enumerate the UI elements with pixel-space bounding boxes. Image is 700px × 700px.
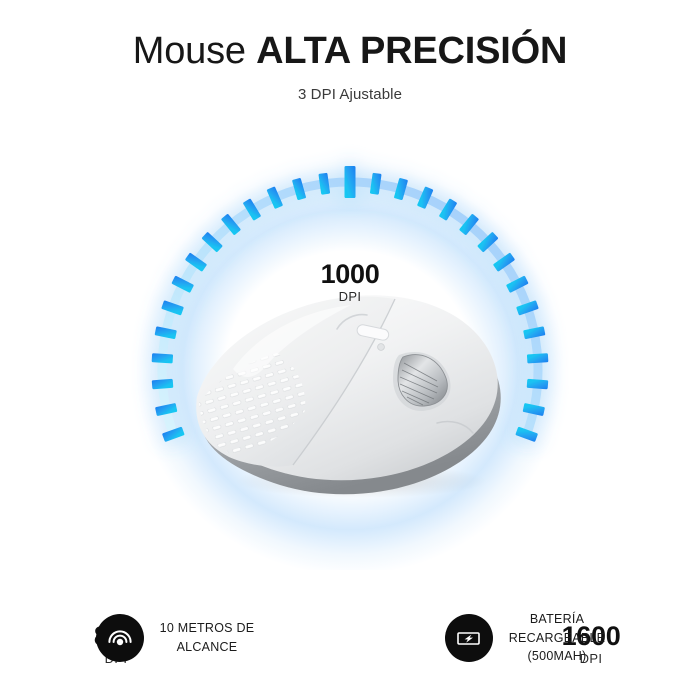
title-bold-part: ALTA PRECISIÓN xyxy=(256,30,567,72)
feature-wireless-range: 10 METROS DE ALCANCE xyxy=(0,588,350,688)
feature-wireless-range-label: 10 METROS DE ALCANCE xyxy=(160,619,255,657)
arc-tick xyxy=(527,353,549,363)
dpi-dial-hero: 1000 DPI 800 DPI 1600 DPI xyxy=(0,120,700,570)
battery-bolt-glyph xyxy=(454,623,484,653)
feature-line: (500MAH) xyxy=(509,647,606,666)
mouse-led-indicator xyxy=(378,344,385,351)
feature-line: BATERÍA xyxy=(509,610,606,629)
feature-rechargeable-battery: BATERÍA RECARGEABLE (500MAH) xyxy=(350,588,700,688)
header: Mouse ALTA PRECISIÓN 3 DPI Ajustable xyxy=(0,0,700,103)
feature-line: 10 METROS DE xyxy=(160,619,255,638)
product-image-mouse xyxy=(185,285,515,500)
feature-strip: 10 METROS DE ALCANCE BATERÍA RECARGEABLE… xyxy=(0,588,700,688)
feature-line: ALCANCE xyxy=(160,638,255,657)
page-subtitle: 3 DPI Ajustable xyxy=(0,86,700,103)
arc-tick-active xyxy=(345,166,356,198)
feature-battery-label: BATERÍA RECARGEABLE (500MAH) xyxy=(509,610,606,666)
wireless-waves-glyph xyxy=(105,623,135,653)
arc-tick xyxy=(152,353,174,363)
dpi-value: 1000 xyxy=(290,260,410,288)
page-title: Mouse ALTA PRECISIÓN xyxy=(0,28,700,74)
wireless-range-icon xyxy=(96,614,144,662)
title-light-part: Mouse xyxy=(133,30,256,72)
dpi-unit: DPI xyxy=(290,290,410,304)
arc-tick xyxy=(152,379,174,390)
rechargeable-battery-icon xyxy=(445,614,493,662)
feature-line: RECARGEABLE xyxy=(509,629,606,648)
dpi-label-1000: 1000 DPI xyxy=(290,260,410,304)
arc-tick xyxy=(527,379,549,390)
